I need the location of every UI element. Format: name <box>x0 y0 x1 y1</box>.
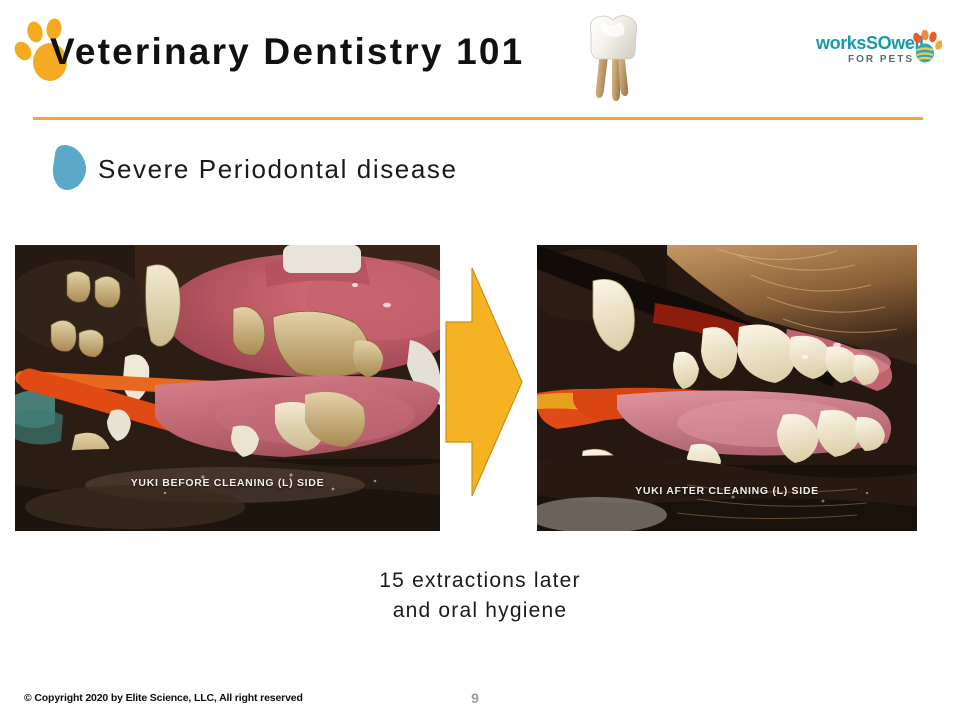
brand-subtitle: FOR PETS <box>848 55 914 65</box>
brand-paw-icon <box>910 30 942 64</box>
page-title: Veterinary Dentistry 101 <box>50 33 524 70</box>
slide-canvas: Veterinary Dentistry 101 <box>0 0 960 720</box>
page-number: 9 <box>455 690 495 706</box>
right-arrow-icon <box>444 266 524 498</box>
photo-caption-after: YUKI AFTER CLEANING (L) SIDE <box>537 485 917 497</box>
section-subheading: Severe Periodontal disease <box>98 154 458 185</box>
photo-before-cleaning: YUKI BEFORE CLEANING (L) SIDE <box>15 245 440 531</box>
photo-caption-before: YUKI BEFORE CLEANING (L) SIDE <box>15 477 440 489</box>
photo-after-cleaning: YUKI AFTER CLEANING (L) SIDE <box>537 245 917 531</box>
footer-copyright: © Copyright 2020 by Elite Science, LLC, … <box>24 692 303 704</box>
result-line-1: 15 extractions later <box>0 566 960 596</box>
result-text: 15 extractions later and oral hygiene <box>0 566 960 627</box>
brand-logo: worksSOwell ™ FOR PETS <box>816 30 940 74</box>
blob-bullet-icon <box>52 144 88 192</box>
header-divider <box>33 117 923 120</box>
molar-tooth-icon <box>574 12 652 102</box>
result-line-2: and oral hygiene <box>0 596 960 626</box>
